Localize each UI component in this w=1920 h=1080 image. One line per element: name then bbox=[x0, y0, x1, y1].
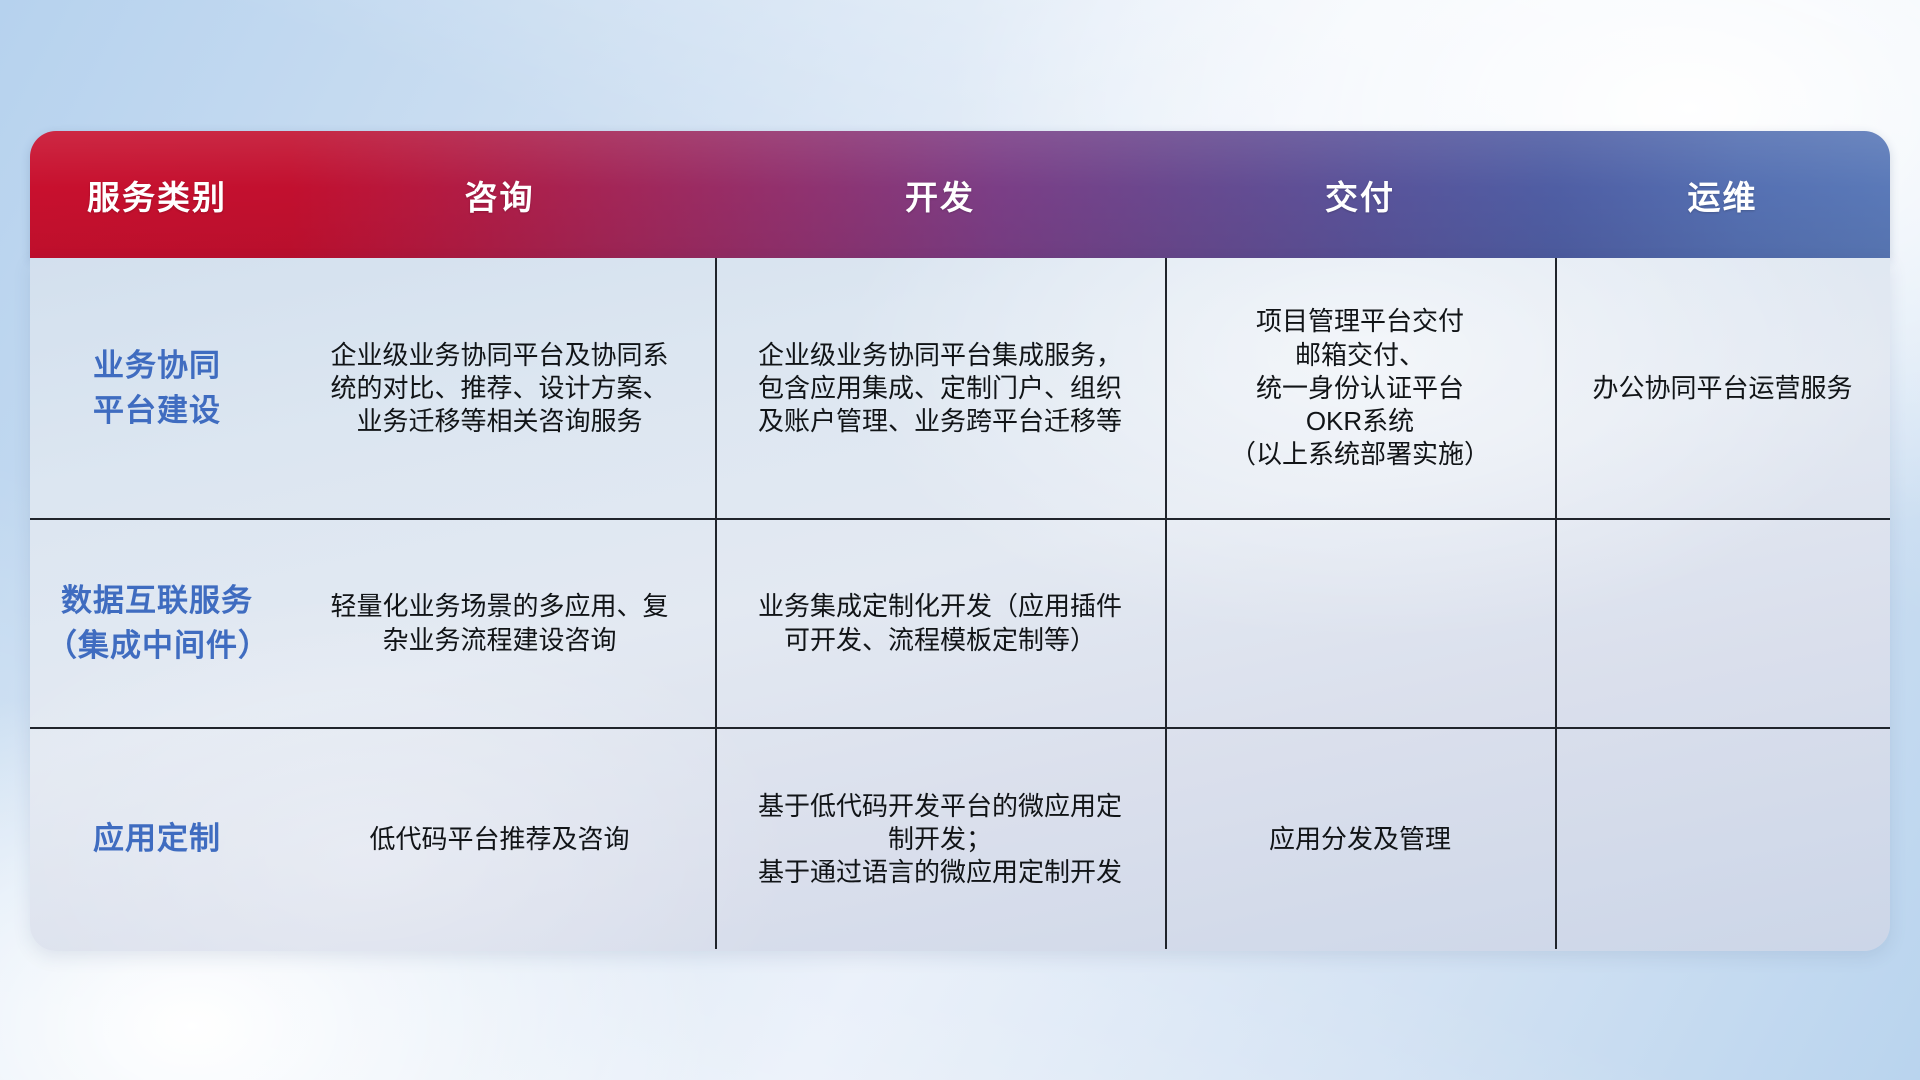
table-row: 数据互联服务 （集成中间件） 轻量化业务场景的多应用、复 杂业务流程建设咨询 业… bbox=[30, 519, 1890, 728]
table-header-row: 服务类别 咨询 开发 交付 运维 bbox=[30, 131, 1890, 258]
row-label-business-collaboration: 业务协同 平台建设 bbox=[30, 258, 284, 519]
service-matrix-table: 服务类别 咨询 开发 交付 运维 业务协同 平台建设 企业级业务协同平台及协同系… bbox=[30, 131, 1890, 951]
cell-development-row-1: 业务集成定制化开发（应用插件 可开发、流程模板定制等） bbox=[715, 519, 1165, 728]
cell-operations-row-0: 办公协同平台运营服务 bbox=[1555, 258, 1890, 519]
cell-delivery-row-0: 项目管理平台交付 邮箱交付、 统一身份认证平台 OKR系统 （以上系统部署实施） bbox=[1165, 258, 1555, 519]
table-body: 业务协同 平台建设 企业级业务协同平台及协同系 统的对比、推荐、设计方案、 业务… bbox=[30, 258, 1890, 951]
cell-consulting-row-0: 企业级业务协同平台及协同系 统的对比、推荐、设计方案、 业务迁移等相关咨询服务 bbox=[284, 258, 715, 519]
table-header-cell-consulting: 咨询 bbox=[284, 171, 715, 219]
row-label-app-customization: 应用定制 bbox=[30, 728, 284, 951]
row-divider-1 bbox=[30, 518, 1890, 520]
cell-development-row-2: 基于低代码开发平台的微应用定 制开发； 基于通过语言的微应用定制开发 bbox=[715, 728, 1165, 951]
cell-operations-row-2 bbox=[1555, 728, 1890, 951]
table-row: 业务协同 平台建设 企业级业务协同平台及协同系 统的对比、推荐、设计方案、 业务… bbox=[30, 258, 1890, 519]
cell-delivery-row-2: 应用分发及管理 bbox=[1165, 728, 1555, 951]
cell-consulting-row-2: 低代码平台推荐及咨询 bbox=[284, 728, 715, 951]
table-row: 应用定制 低代码平台推荐及咨询 基于低代码开发平台的微应用定 制开发； 基于通过… bbox=[30, 728, 1890, 951]
column-divider-1 bbox=[715, 258, 717, 949]
cell-development-row-0: 企业级业务协同平台集成服务， 包含应用集成、定制门户、组织 及账户管理、业务跨平… bbox=[715, 258, 1165, 519]
row-label-data-interconnect: 数据互联服务 （集成中间件） bbox=[30, 519, 284, 728]
table-header-cell-operations: 运维 bbox=[1555, 171, 1890, 219]
row-divider-2 bbox=[30, 727, 1890, 729]
table-header-cell-delivery: 交付 bbox=[1165, 171, 1555, 219]
table-header-cell-service-category: 服务类别 bbox=[30, 171, 284, 219]
cell-delivery-row-1 bbox=[1165, 519, 1555, 728]
column-divider-3 bbox=[1555, 258, 1557, 949]
cell-operations-row-1 bbox=[1555, 519, 1890, 728]
cell-consulting-row-1: 轻量化业务场景的多应用、复 杂业务流程建设咨询 bbox=[284, 519, 715, 728]
column-divider-2 bbox=[1165, 258, 1167, 949]
table-header-cell-development: 开发 bbox=[715, 171, 1165, 219]
